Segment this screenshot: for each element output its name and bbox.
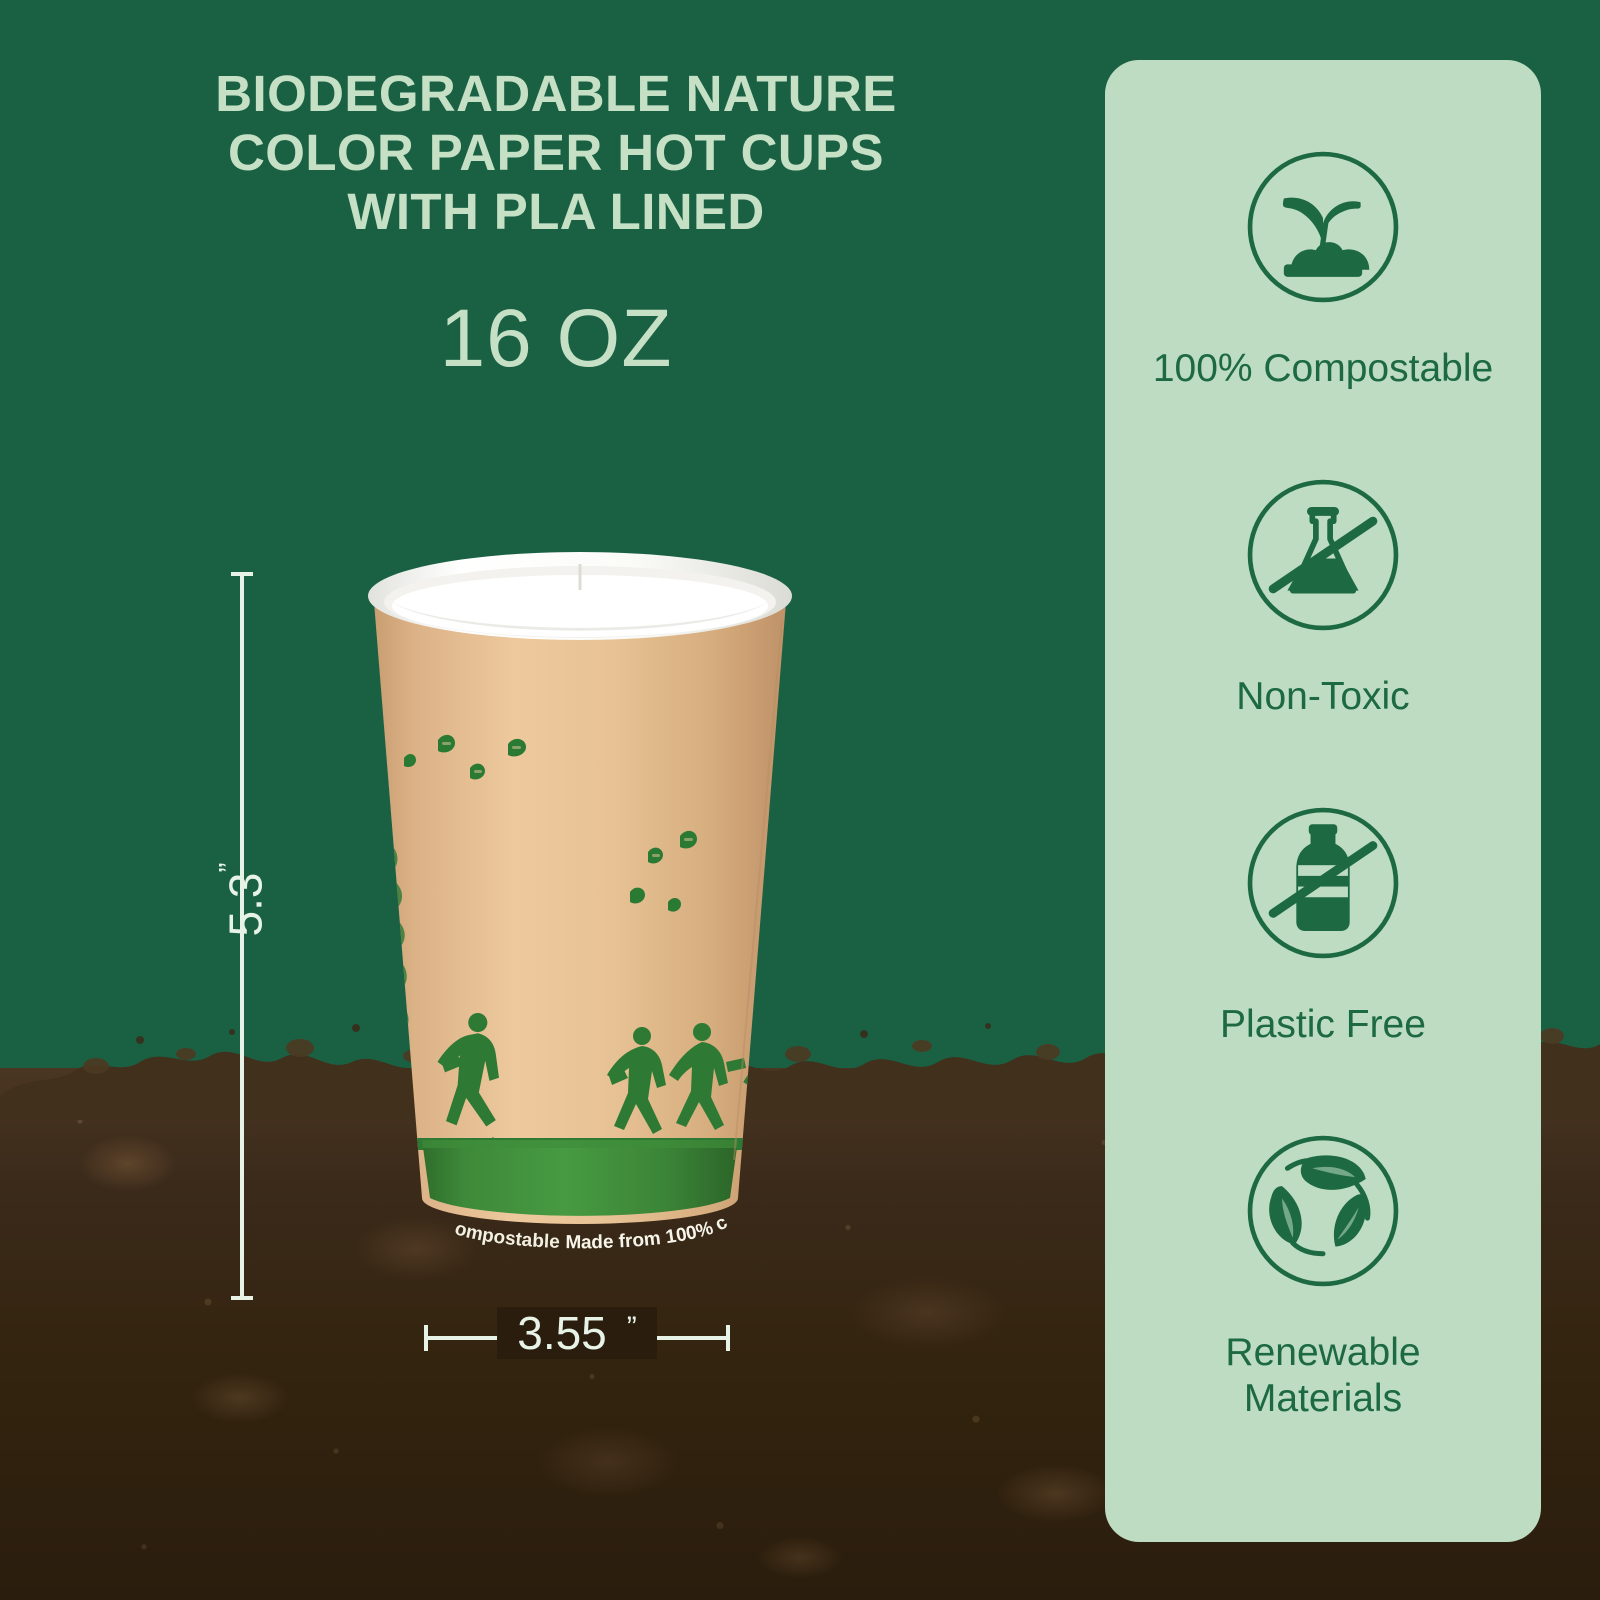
seedling-sprout-icon — [1234, 138, 1412, 316]
badge-label: Non-Toxic — [1236, 674, 1409, 720]
size-label: 16 OZ — [86, 292, 1026, 386]
badge-non-toxic: Non-Toxic — [1234, 466, 1412, 720]
cup-band-text-left: ompostable — [452, 1218, 560, 1253]
headline-line-2: COLOR PAPER HOT CUPS — [86, 123, 1026, 182]
features-panel: 100% Compostable Non-Toxic — [1105, 60, 1541, 1542]
height-value: 5.3 — [220, 873, 272, 937]
badge-plastic-free: Plastic Free — [1220, 794, 1426, 1048]
badge-label: 100% Compostable — [1153, 346, 1493, 392]
no-plastic-bottle-icon — [1234, 794, 1412, 972]
height-dimension-label: 5.3” — [214, 835, 273, 965]
no-chemicals-flask-icon — [1234, 466, 1412, 644]
headline-line-3: WITH PLA LINED — [86, 182, 1026, 241]
badge-compostable: 100% Compostable — [1153, 138, 1493, 392]
badge-label: Plastic Free — [1220, 1002, 1426, 1048]
badge-label: Renewable Materials — [1225, 1330, 1420, 1422]
infographic-stage: BIODEGRADABLE NATURE COLOR PAPER HOT CUP… — [0, 0, 1600, 1600]
height-dimension-cap-bottom — [231, 1296, 253, 1300]
height-unit: ” — [214, 863, 247, 873]
height-dimension-cap-top — [231, 572, 253, 576]
paper-cup-image: ompostable Made from 100% com — [330, 540, 830, 1300]
page-title: BIODEGRADABLE NATURE COLOR PAPER HOT CUP… — [86, 64, 1026, 241]
width-unit: ” — [617, 1311, 647, 1344]
svg-text:ompostable: ompostable — [452, 1218, 560, 1253]
width-value: 3.55 — [507, 1307, 617, 1359]
headline-line-1: BIODEGRADABLE NATURE — [86, 64, 1026, 123]
width-dimension-label: 3.55” — [424, 1306, 730, 1360]
badge-renewable: Renewable Materials — [1225, 1122, 1420, 1422]
renewable-leaves-icon — [1234, 1122, 1412, 1300]
